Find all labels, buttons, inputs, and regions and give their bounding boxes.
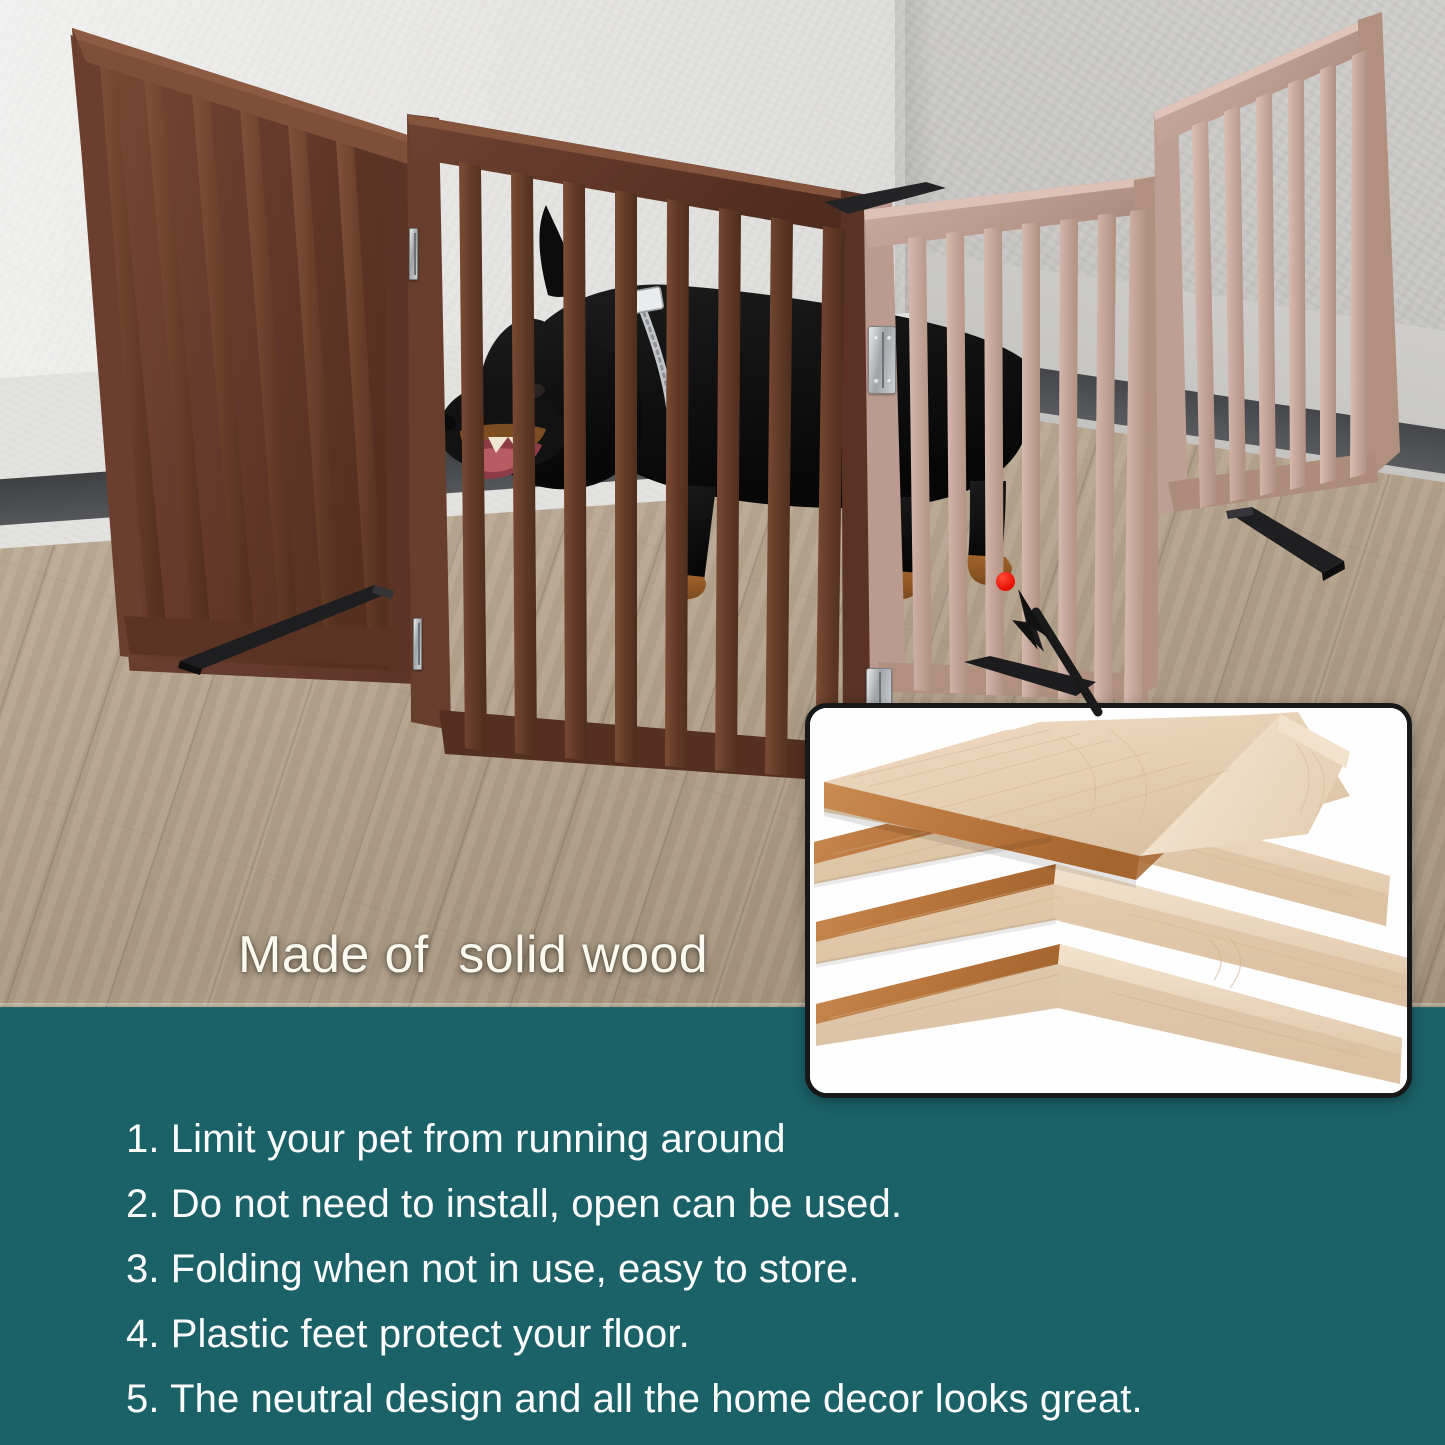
list-item: 2. Do not need to install, open can be u… [126, 1182, 902, 1227]
feature-text: The neutral design and all the home deco… [170, 1377, 1143, 1421]
product-marketing-image: Made of solid wood 1. Limit your pet fro… [0, 0, 1445, 1445]
gate-panel-4 [1152, 12, 1404, 572]
wood-sample-inset [805, 703, 1412, 1098]
list-item: 1. Limit your pet from running around [126, 1117, 786, 1162]
hinge-pin [414, 233, 416, 275]
feature-number: 2. [126, 1182, 171, 1226]
feature-number: 5. [126, 1377, 170, 1421]
feature-text: Plastic feet protect your floor. [171, 1312, 690, 1356]
hinge-pin [879, 672, 881, 706]
gate-panel-2 [405, 110, 875, 800]
gate-foot-1 [178, 585, 398, 677]
gate-foot-3 [960, 652, 1100, 708]
feature-text: Folding when not in use, easy to store. [171, 1247, 860, 1291]
gate-panel-3 [862, 176, 1162, 706]
hinge-screw [887, 379, 892, 384]
hinge-screw [874, 379, 879, 384]
hinge-screw [887, 336, 892, 341]
wood-boards-photo [810, 708, 1407, 1093]
gate-hinge-2 [413, 618, 422, 670]
list-item: 5. The neutral design and all the home d… [126, 1377, 1143, 1422]
list-item: 4. Plastic feet protect your floor. [126, 1312, 690, 1357]
hinge-pin [882, 332, 884, 387]
feature-number: 1. [126, 1117, 171, 1161]
gate-hinge-1 [409, 228, 418, 280]
caption-made-of-solid-wood: Made of solid wood [238, 925, 708, 985]
gate-hinge-3 [868, 326, 896, 394]
feature-text: Do not need to install, open can be used… [171, 1182, 902, 1226]
hinge-pin [418, 623, 420, 665]
hinge-screw [874, 336, 879, 341]
feature-number: 3. [126, 1247, 171, 1291]
gate-foot-4 [818, 180, 948, 228]
feature-number: 4. [126, 1312, 171, 1356]
list-item: 3. Folding when not in use, easy to stor… [126, 1247, 860, 1292]
feature-text: Limit your pet from running around [171, 1117, 786, 1161]
gate-foot-2 [1218, 505, 1348, 585]
